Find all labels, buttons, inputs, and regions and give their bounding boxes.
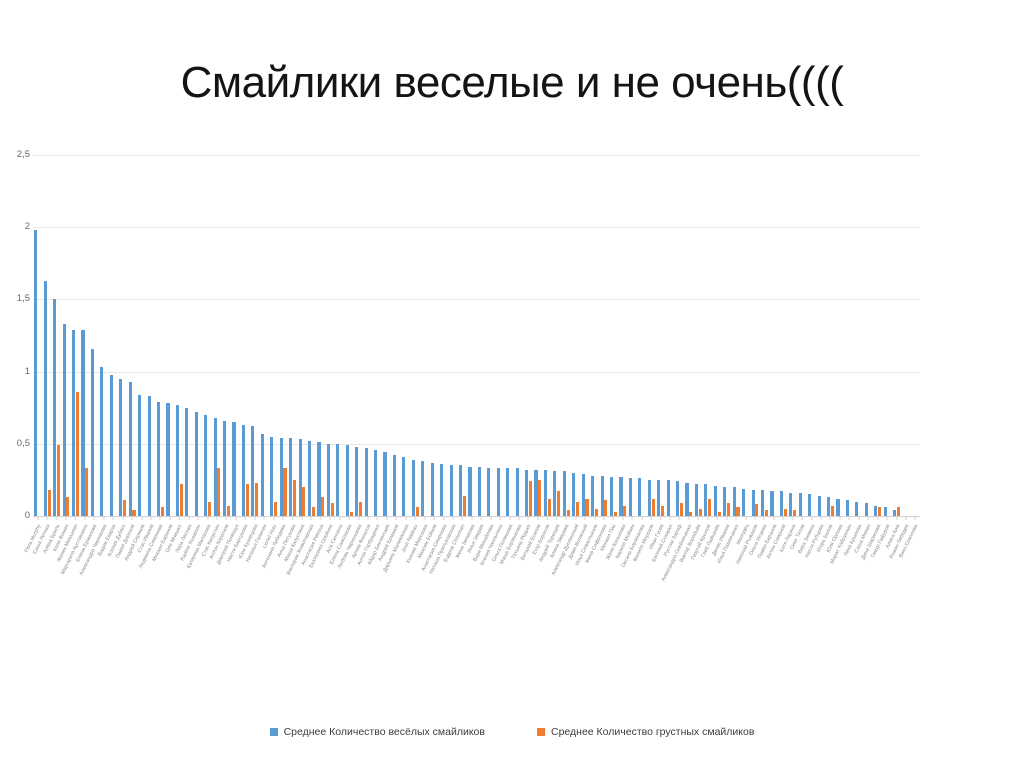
bar-happy[interactable] bbox=[497, 468, 500, 516]
bar-group[interactable] bbox=[571, 155, 580, 516]
bar-group[interactable] bbox=[835, 155, 844, 516]
bar-group[interactable] bbox=[392, 155, 401, 516]
bar-happy[interactable] bbox=[619, 477, 622, 516]
bar-group[interactable] bbox=[316, 155, 325, 516]
bar-group[interactable] bbox=[61, 155, 70, 516]
bar-sad[interactable] bbox=[652, 499, 655, 516]
bar-group[interactable] bbox=[524, 155, 533, 516]
bar-happy[interactable] bbox=[893, 510, 896, 516]
bar-group[interactable] bbox=[250, 155, 259, 516]
bar-group[interactable] bbox=[628, 155, 637, 516]
bar-happy[interactable] bbox=[780, 491, 783, 516]
bar-happy[interactable] bbox=[450, 465, 453, 516]
bar-happy[interactable] bbox=[657, 480, 660, 516]
bar-group[interactable] bbox=[864, 155, 873, 516]
bar-happy[interactable] bbox=[459, 465, 462, 516]
bar-group[interactable] bbox=[505, 155, 514, 516]
bar-happy[interactable] bbox=[185, 408, 188, 516]
bar-sad[interactable] bbox=[585, 499, 588, 516]
bar-group[interactable] bbox=[193, 155, 202, 516]
bar-happy[interactable] bbox=[204, 415, 207, 516]
bar-happy[interactable] bbox=[63, 324, 66, 516]
bar-sad[interactable] bbox=[227, 506, 230, 516]
bar-happy[interactable] bbox=[280, 438, 283, 516]
x-label-slot: Илья Павличенко bbox=[731, 520, 740, 720]
bar-happy[interactable] bbox=[525, 470, 528, 516]
bar-happy[interactable] bbox=[72, 330, 75, 516]
bar-happy[interactable] bbox=[383, 452, 386, 516]
legend-swatch-happy-icon bbox=[270, 728, 278, 736]
bar-happy[interactable] bbox=[374, 450, 377, 516]
bar-happy[interactable] bbox=[742, 489, 745, 516]
legend-item-happy[interactable]: Среднее Количество весёлых смайликов bbox=[270, 726, 485, 738]
x-axis-line bbox=[33, 516, 920, 517]
bar-group[interactable] bbox=[401, 155, 410, 516]
bar-group[interactable] bbox=[335, 155, 344, 516]
bar-happy[interactable] bbox=[836, 499, 839, 516]
bar-happy[interactable] bbox=[91, 349, 94, 517]
bar-group[interactable] bbox=[109, 155, 118, 516]
bar-group[interactable] bbox=[222, 155, 231, 516]
bar-happy[interactable] bbox=[865, 503, 868, 516]
bar-sad[interactable] bbox=[180, 484, 183, 516]
bar-sad[interactable] bbox=[567, 510, 570, 516]
bar-happy[interactable] bbox=[572, 473, 575, 516]
bar-sad[interactable] bbox=[255, 483, 258, 516]
bar-sad[interactable] bbox=[661, 506, 664, 516]
bar-happy[interactable] bbox=[648, 480, 651, 516]
bar-group[interactable] bbox=[326, 155, 335, 516]
bar-happy[interactable] bbox=[308, 441, 311, 516]
bar-sad[interactable] bbox=[595, 509, 598, 516]
bar-group[interactable] bbox=[42, 155, 51, 516]
bar-sad[interactable] bbox=[604, 500, 607, 516]
bar-happy[interactable] bbox=[214, 418, 217, 516]
bar-group[interactable] bbox=[467, 155, 476, 516]
bar-group[interactable] bbox=[71, 155, 80, 516]
bar-group[interactable] bbox=[637, 155, 646, 516]
bar-sad[interactable] bbox=[302, 487, 305, 516]
bar-happy[interactable] bbox=[129, 382, 132, 516]
bar-happy[interactable] bbox=[100, 367, 103, 516]
bar-happy[interactable] bbox=[808, 494, 811, 516]
bar-group[interactable] bbox=[458, 155, 467, 516]
x-label-slot: Вика Соколова bbox=[911, 520, 920, 720]
bar-happy[interactable] bbox=[270, 437, 273, 516]
bar-sad[interactable] bbox=[718, 512, 721, 516]
bar-happy[interactable] bbox=[733, 487, 736, 516]
bar-group[interactable] bbox=[609, 155, 618, 516]
bar-happy[interactable] bbox=[176, 405, 179, 516]
bar-group[interactable] bbox=[892, 155, 901, 516]
bar-happy[interactable] bbox=[723, 487, 726, 516]
legend-label-sad: Среднее Количество грустных смайликов bbox=[551, 726, 754, 738]
bar-happy[interactable] bbox=[412, 460, 415, 516]
bar-happy[interactable] bbox=[365, 448, 368, 516]
bar-group[interactable] bbox=[288, 155, 297, 516]
bar-happy[interactable] bbox=[629, 478, 632, 516]
bar-group[interactable] bbox=[203, 155, 212, 516]
bar-group[interactable] bbox=[552, 155, 561, 516]
bar-group[interactable] bbox=[241, 155, 250, 516]
bar-sad[interactable] bbox=[548, 499, 551, 516]
bar-happy[interactable] bbox=[468, 467, 471, 516]
bar-group[interactable] bbox=[127, 155, 136, 516]
bar-happy[interactable] bbox=[874, 506, 877, 516]
bar-sad[interactable] bbox=[350, 512, 353, 516]
bar-happy[interactable] bbox=[195, 412, 198, 516]
bar-group[interactable] bbox=[99, 155, 108, 516]
bar-group[interactable] bbox=[599, 155, 608, 516]
bar-happy[interactable] bbox=[119, 379, 122, 516]
bar-sad[interactable] bbox=[623, 506, 626, 516]
bar-happy[interactable] bbox=[81, 330, 84, 516]
bar-group[interactable] bbox=[514, 155, 523, 516]
bar-happy[interactable] bbox=[478, 467, 481, 516]
bar-group[interactable] bbox=[656, 155, 665, 516]
bar-happy[interactable] bbox=[506, 468, 509, 516]
bar-happy[interactable] bbox=[44, 281, 47, 516]
bar-group[interactable] bbox=[731, 155, 740, 516]
bar-group[interactable] bbox=[429, 155, 438, 516]
bar-happy[interactable] bbox=[355, 447, 358, 516]
bar-happy[interactable] bbox=[346, 445, 349, 516]
chart-title: Смайлики веселые и не очень(((( bbox=[0, 58, 1024, 108]
bar-group[interactable] bbox=[495, 155, 504, 516]
bar-group[interactable] bbox=[297, 155, 306, 516]
bar-sad[interactable] bbox=[293, 480, 296, 516]
x-label-slot: Наталья Галечян bbox=[260, 520, 269, 720]
bar-group[interactable] bbox=[137, 155, 146, 516]
bar-happy[interactable] bbox=[667, 480, 670, 516]
bar-group[interactable] bbox=[477, 155, 486, 516]
chart-legend: Среднее Количество весёлых смайликов Сре… bbox=[0, 726, 1024, 738]
bar-happy[interactable] bbox=[223, 421, 226, 516]
bar-sad[interactable] bbox=[161, 507, 164, 516]
bar-happy[interactable] bbox=[402, 457, 405, 516]
bar-sad[interactable] bbox=[66, 497, 69, 516]
bar-happy[interactable] bbox=[431, 463, 434, 516]
bar-sad[interactable] bbox=[274, 502, 277, 516]
bar-happy[interactable] bbox=[299, 439, 302, 516]
bar-happy[interactable] bbox=[138, 395, 141, 516]
bar-group[interactable] bbox=[231, 155, 240, 516]
bar-sad[interactable] bbox=[57, 445, 60, 516]
bar-sad[interactable] bbox=[217, 468, 220, 516]
bar-happy[interactable] bbox=[770, 491, 773, 516]
bar-sad[interactable] bbox=[897, 507, 900, 516]
bar-group[interactable] bbox=[694, 155, 703, 516]
bar-happy[interactable] bbox=[855, 502, 858, 516]
bar-sad[interactable] bbox=[283, 468, 286, 516]
bar-happy[interactable] bbox=[799, 493, 802, 516]
bar-happy[interactable] bbox=[827, 497, 830, 516]
bar-sad[interactable] bbox=[246, 484, 249, 516]
bar-happy[interactable] bbox=[242, 425, 245, 516]
bar-group[interactable] bbox=[675, 155, 684, 516]
bar-sad[interactable] bbox=[416, 507, 419, 516]
bar-group[interactable] bbox=[797, 155, 806, 516]
bar-happy[interactable] bbox=[685, 483, 688, 516]
bar-happy[interactable] bbox=[582, 474, 585, 516]
bar-sad[interactable] bbox=[529, 481, 532, 516]
bar-group[interactable] bbox=[411, 155, 420, 516]
bar-sad[interactable] bbox=[123, 500, 126, 516]
bar-group[interactable] bbox=[590, 155, 599, 516]
bar-sad[interactable] bbox=[614, 512, 617, 516]
bar-group[interactable] bbox=[52, 155, 61, 516]
bar-happy[interactable] bbox=[148, 396, 151, 516]
bar-group[interactable] bbox=[882, 155, 891, 516]
bar-sad[interactable] bbox=[463, 496, 466, 516]
bar-group[interactable] bbox=[260, 155, 269, 516]
bar-group[interactable] bbox=[184, 155, 193, 516]
bar-happy[interactable] bbox=[601, 476, 604, 516]
bar-group[interactable] bbox=[911, 155, 920, 516]
bar-group[interactable] bbox=[382, 155, 391, 516]
bar-happy[interactable] bbox=[157, 402, 160, 516]
bar-group[interactable] bbox=[713, 155, 722, 516]
bar-group[interactable] bbox=[722, 155, 731, 516]
bar-happy[interactable] bbox=[232, 422, 235, 516]
bar-group[interactable] bbox=[344, 155, 353, 516]
bar-group[interactable] bbox=[901, 155, 910, 516]
bar-happy[interactable] bbox=[714, 486, 717, 516]
bar-sad[interactable] bbox=[538, 480, 541, 516]
bar-happy[interactable] bbox=[591, 476, 594, 516]
bar-happy[interactable] bbox=[704, 484, 707, 516]
bar-happy[interactable] bbox=[553, 471, 556, 516]
legend-label-happy: Среднее Количество весёлых смайликов bbox=[284, 726, 485, 738]
bar-group[interactable] bbox=[845, 155, 854, 516]
bar-group[interactable] bbox=[807, 155, 816, 516]
bar-sad[interactable] bbox=[76, 392, 79, 516]
bar-happy[interactable] bbox=[421, 461, 424, 516]
bar-happy[interactable] bbox=[251, 426, 254, 516]
x-axis-labels: Flora MurphyСаша ЛетнаяАлёна БрильКоля Ф… bbox=[33, 520, 920, 720]
bar-happy[interactable] bbox=[610, 477, 613, 516]
bar-happy[interactable] bbox=[638, 478, 641, 516]
bar-sad[interactable] bbox=[699, 509, 702, 516]
bar-group[interactable] bbox=[665, 155, 674, 516]
bar-group[interactable] bbox=[448, 155, 457, 516]
bar-group[interactable] bbox=[212, 155, 221, 516]
bar-happy[interactable] bbox=[393, 455, 396, 516]
bar-group[interactable] bbox=[826, 155, 835, 516]
legend-swatch-sad-icon bbox=[537, 728, 545, 736]
bar-sad[interactable] bbox=[878, 507, 881, 516]
bar-group[interactable] bbox=[165, 155, 174, 516]
bar-happy[interactable] bbox=[289, 438, 292, 516]
bar-happy[interactable] bbox=[440, 464, 443, 516]
bar-happy[interactable] bbox=[516, 468, 519, 516]
bar-group[interactable] bbox=[175, 155, 184, 516]
bar-happy[interactable] bbox=[34, 230, 37, 516]
bar-happy[interactable] bbox=[166, 403, 169, 516]
bar-group[interactable] bbox=[278, 155, 287, 516]
bar-sad[interactable] bbox=[557, 491, 560, 516]
bar-group[interactable] bbox=[684, 155, 693, 516]
bar-group[interactable] bbox=[439, 155, 448, 516]
bar-sad[interactable] bbox=[736, 507, 739, 516]
bar-happy[interactable] bbox=[487, 468, 490, 516]
bar-happy[interactable] bbox=[789, 493, 792, 516]
bar-happy[interactable] bbox=[563, 471, 566, 516]
bar-sad[interactable] bbox=[132, 510, 135, 516]
bar-sad[interactable] bbox=[359, 502, 362, 516]
legend-item-sad[interactable]: Среднее Количество грустных смайликов bbox=[537, 726, 754, 738]
bar-group[interactable] bbox=[80, 155, 89, 516]
bar-group[interactable] bbox=[816, 155, 825, 516]
bar-sad[interactable] bbox=[576, 502, 579, 516]
bar-group[interactable] bbox=[741, 155, 750, 516]
bar-group[interactable] bbox=[580, 155, 589, 516]
bar-group[interactable] bbox=[703, 155, 712, 516]
bar-group[interactable] bbox=[118, 155, 127, 516]
bar-group[interactable] bbox=[146, 155, 155, 516]
bar-sad[interactable] bbox=[831, 506, 834, 516]
bar-sad[interactable] bbox=[765, 510, 768, 516]
bar-sad[interactable] bbox=[85, 468, 88, 516]
bar-sad[interactable] bbox=[331, 503, 334, 516]
bar-group[interactable] bbox=[156, 155, 165, 516]
bar-group[interactable] bbox=[533, 155, 542, 516]
bar-group[interactable] bbox=[486, 155, 495, 516]
bar-group[interactable] bbox=[420, 155, 429, 516]
bar-group[interactable] bbox=[750, 155, 759, 516]
bar-group[interactable] bbox=[373, 155, 382, 516]
bar-happy[interactable] bbox=[752, 490, 755, 516]
bar-happy[interactable] bbox=[327, 444, 330, 516]
bar-group[interactable] bbox=[33, 155, 42, 516]
bar-series-container bbox=[33, 155, 920, 516]
bar-sad[interactable] bbox=[48, 490, 51, 516]
x-label-slot: Тимур Гафуров bbox=[882, 520, 891, 720]
bar-sad[interactable] bbox=[312, 507, 315, 516]
bar-happy[interactable] bbox=[261, 434, 264, 516]
bar-happy[interactable] bbox=[676, 481, 679, 516]
bar-sad[interactable] bbox=[708, 499, 711, 516]
bar-sad[interactable] bbox=[208, 502, 211, 516]
bar-sad[interactable] bbox=[784, 509, 787, 516]
bar-group[interactable] bbox=[779, 155, 788, 516]
bar-happy[interactable] bbox=[317, 442, 320, 516]
bar-group[interactable] bbox=[854, 155, 863, 516]
bar-group[interactable] bbox=[307, 155, 316, 516]
bar-sad[interactable] bbox=[793, 510, 796, 516]
x-label-slot: Филипп Морозов bbox=[646, 520, 655, 720]
bar-sad[interactable] bbox=[321, 497, 324, 516]
bar-happy[interactable] bbox=[846, 500, 849, 516]
bar-group[interactable] bbox=[269, 155, 278, 516]
bar-sad[interactable] bbox=[689, 512, 692, 516]
bar-happy[interactable] bbox=[110, 375, 113, 517]
bar-happy[interactable] bbox=[884, 507, 887, 516]
bar-happy[interactable] bbox=[818, 496, 821, 516]
bar-group[interactable] bbox=[562, 155, 571, 516]
bar-group[interactable] bbox=[363, 155, 372, 516]
bar-group[interactable] bbox=[873, 155, 882, 516]
bar-group[interactable] bbox=[769, 155, 778, 516]
bar-happy[interactable] bbox=[695, 484, 698, 516]
bar-sad[interactable] bbox=[680, 503, 683, 516]
bar-happy[interactable] bbox=[544, 470, 547, 516]
bar-group[interactable] bbox=[90, 155, 99, 516]
bar-group[interactable] bbox=[788, 155, 797, 516]
bar-group[interactable] bbox=[646, 155, 655, 516]
bar-sad[interactable] bbox=[755, 504, 758, 516]
bar-sad[interactable] bbox=[727, 503, 730, 516]
bar-group[interactable] bbox=[760, 155, 769, 516]
bar-happy[interactable] bbox=[534, 470, 537, 516]
bar-group[interactable] bbox=[618, 155, 627, 516]
bar-happy[interactable] bbox=[336, 444, 339, 516]
bar-happy[interactable] bbox=[53, 299, 56, 516]
bar-happy[interactable] bbox=[761, 490, 764, 516]
bar-group[interactable] bbox=[354, 155, 363, 516]
bar-group[interactable] bbox=[543, 155, 552, 516]
